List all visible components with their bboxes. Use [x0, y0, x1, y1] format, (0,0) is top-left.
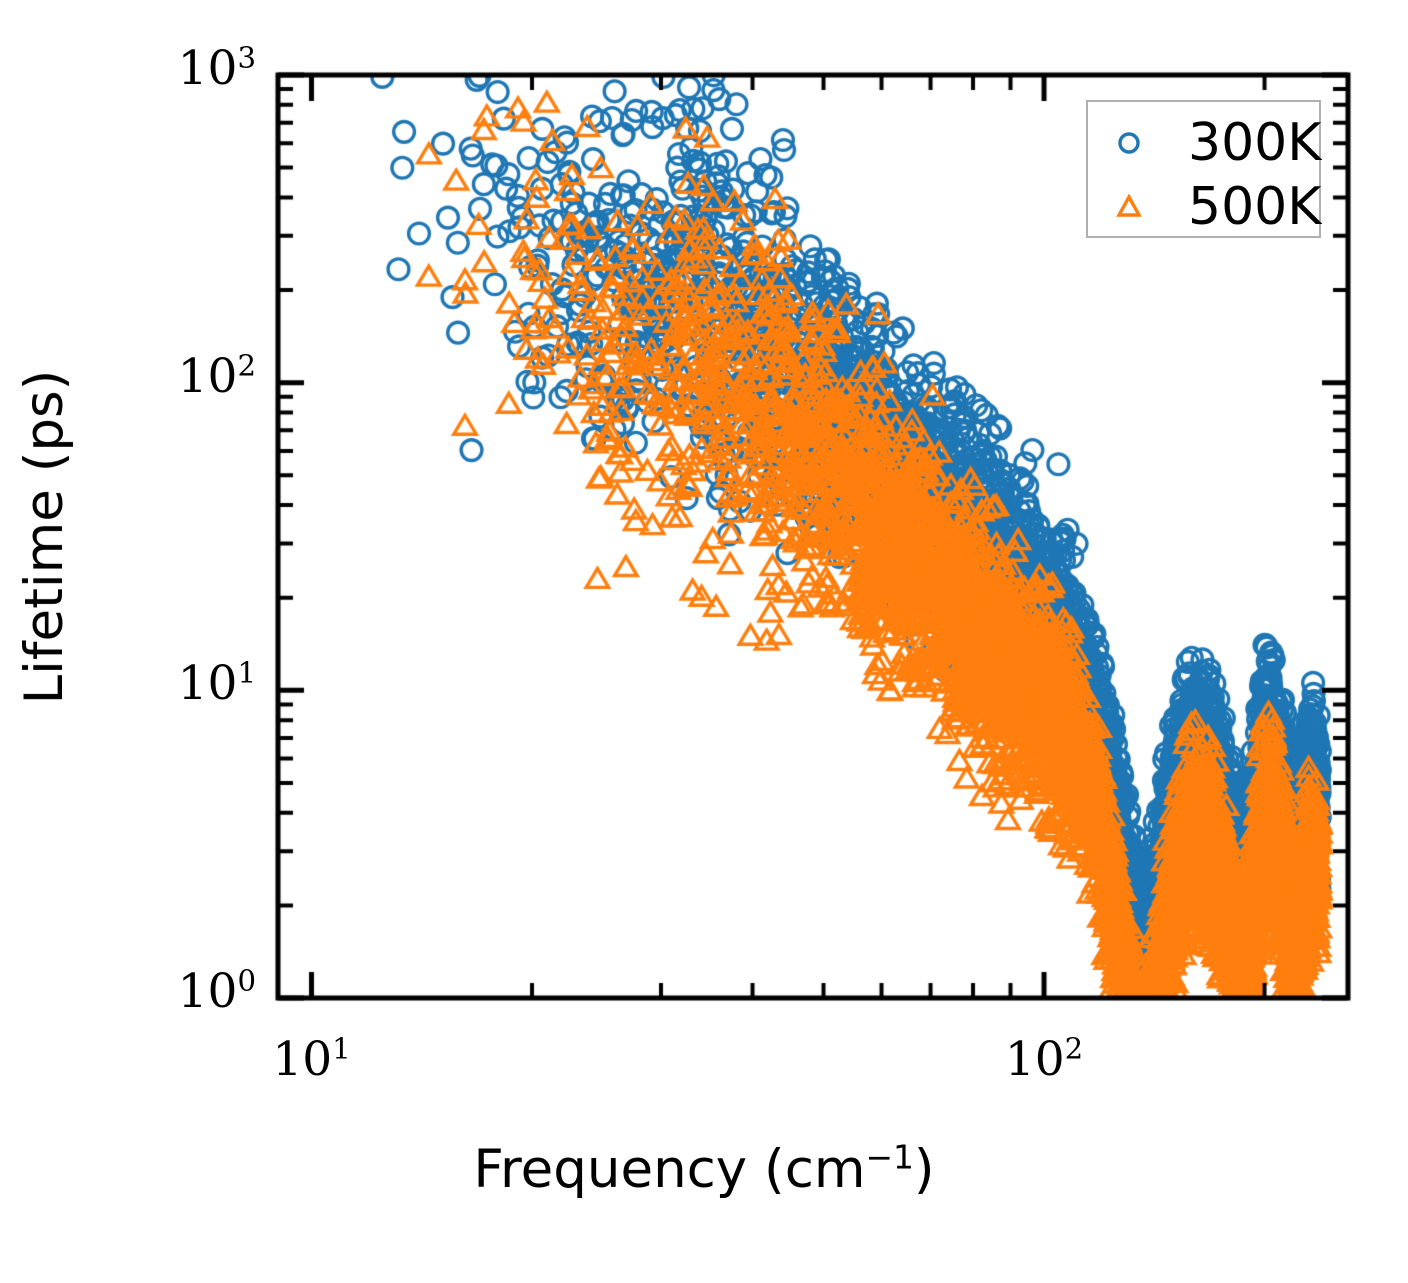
x-axis-title-tail: ) [914, 1139, 935, 1200]
legend-label-500k: 500K [1188, 177, 1321, 237]
x-tick-label-10: 101 [232, 1036, 392, 1083]
x-axis-title-base: Frequency (cm [473, 1139, 865, 1200]
x-axis-title: Frequency (cm−1) [0, 1143, 1408, 1196]
legend[interactable]: 300K 500K [1086, 100, 1321, 238]
circle-marker-icon [1106, 120, 1152, 166]
legend-label-300k: 300K [1188, 113, 1321, 173]
legend-item-300k[interactable]: 300K [1106, 114, 1321, 172]
y-axis-title: Lifetime (ps) [18, 369, 71, 704]
y-tick-label-1: 100 [0, 968, 256, 1015]
triangle-marker-icon [1106, 184, 1152, 230]
x-axis-title-exponent: −1 [865, 1137, 913, 1176]
x-tick-label-100: 102 [964, 1036, 1124, 1083]
y-tick-label-1000: 103 [0, 45, 256, 92]
legend-item-500k[interactable]: 500K [1106, 178, 1321, 236]
figure-container: 103 102 101 100 101 102 Lifetime (ps) Fr… [0, 0, 1408, 1283]
